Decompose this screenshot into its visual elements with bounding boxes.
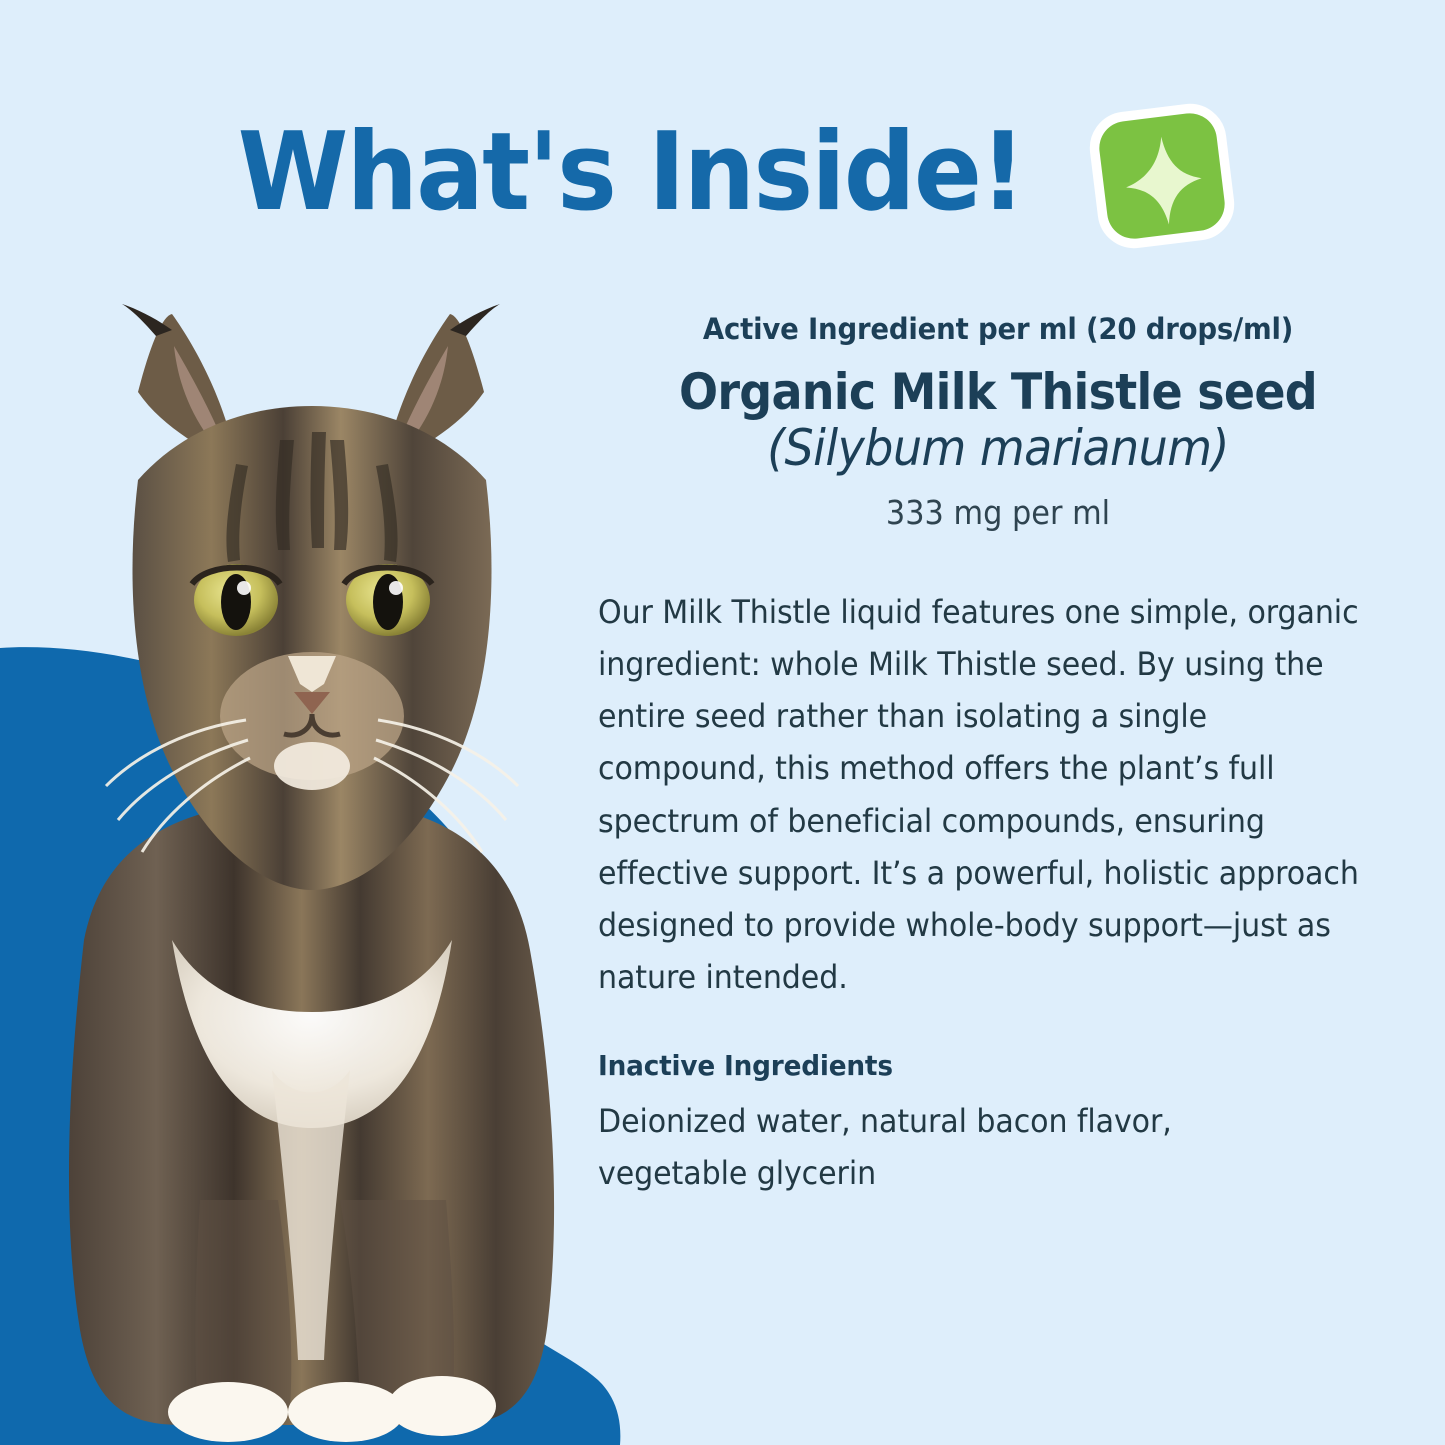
cat-chin (274, 742, 350, 790)
inactive-ingredients-list: Deionized water, natural bacon flavor, v… (598, 1096, 1275, 1200)
ingredient-panel: Active Ingredient per ml (20 drops/ml) O… (598, 312, 1398, 1200)
inactive-ingredients-heading: Inactive Ingredients (598, 1049, 1350, 1082)
cat-left-leg (195, 1200, 291, 1408)
ingredient-name: Organic Milk Thistle seed (630, 366, 1366, 419)
cat-illustration (22, 300, 602, 1445)
active-ingredient-label: Active Ingredient per ml (20 drops/ml) (618, 312, 1378, 346)
page-title: What's Inside! (237, 119, 1023, 227)
whats-inside-infographic: What's Inside! (0, 0, 1445, 1445)
cat-ear-tuft-left (122, 304, 172, 336)
cat-photo (22, 300, 602, 1445)
ingredient-description: Our Milk Thistle liquid features one sim… (598, 586, 1383, 1003)
page-header: What's Inside! (0, 78, 1445, 268)
cat-paw-front-right (288, 1382, 404, 1442)
ingredient-dosage: 333 mg per ml (630, 493, 1366, 532)
cat-paw-front-left (168, 1382, 288, 1442)
sparkle-badge-icon (1087, 101, 1237, 251)
cat-paw-rear-right (388, 1376, 496, 1436)
cat-ear-tuft-right (450, 304, 500, 336)
ingredient-latin-name: (Silybum marianum) (630, 421, 1366, 475)
sparkle-badge-svg (1087, 101, 1237, 251)
